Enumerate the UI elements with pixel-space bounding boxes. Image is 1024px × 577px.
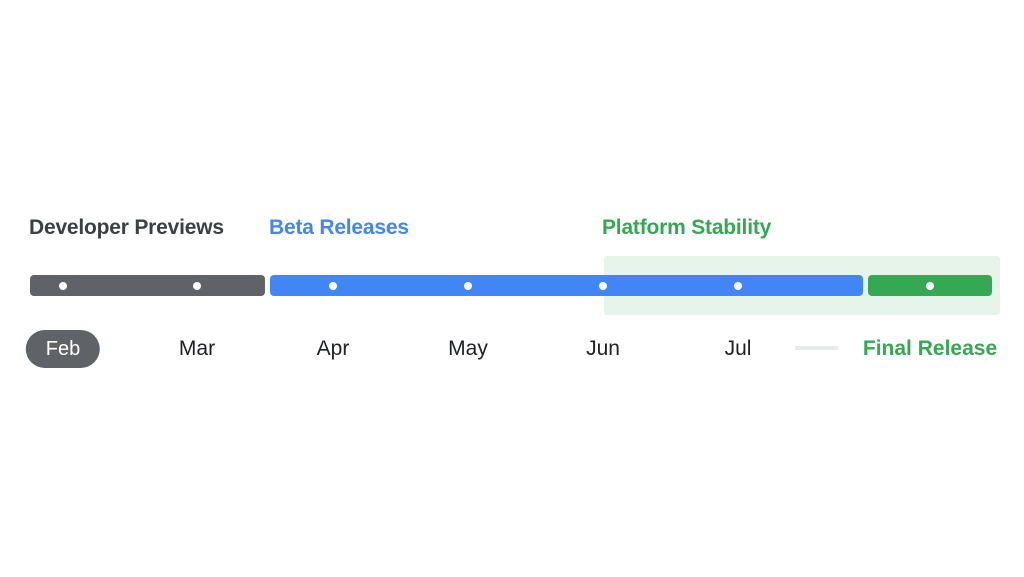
- milestone-dot-jul: [734, 282, 742, 290]
- milestone-label-may[interactable]: May: [448, 336, 488, 362]
- milestone-label-jun[interactable]: Jun: [586, 336, 620, 362]
- bar-developer-previews[interactable]: [30, 275, 265, 296]
- milestone-label-feb[interactable]: Feb: [26, 330, 100, 368]
- milestone-dot-jun: [599, 282, 607, 290]
- milestone-label-mar[interactable]: Mar: [179, 336, 215, 362]
- phase-label-developer-previews: Developer Previews: [29, 214, 224, 242]
- milestone-dot-apr: [329, 282, 337, 290]
- milestone-dot-may: [464, 282, 472, 290]
- release-timeline: Developer Previews Beta Releases Platfor…: [0, 0, 1024, 577]
- milestone-label-jul[interactable]: Jul: [725, 336, 752, 362]
- phase-label-beta-releases: Beta Releases: [269, 214, 409, 242]
- bar-beta-releases[interactable]: [270, 275, 863, 296]
- milestone-dot-feb: [59, 282, 67, 290]
- milestone-dot-final-release: [926, 282, 934, 290]
- bar-final-release[interactable]: [868, 275, 992, 296]
- timeline-connector-dash: [795, 346, 838, 350]
- milestone-dot-mar: [193, 282, 201, 290]
- milestone-label-apr[interactable]: Apr: [317, 336, 350, 362]
- milestone-label-final-release[interactable]: Final Release: [863, 336, 997, 362]
- phase-label-platform-stability: Platform Stability: [602, 214, 771, 242]
